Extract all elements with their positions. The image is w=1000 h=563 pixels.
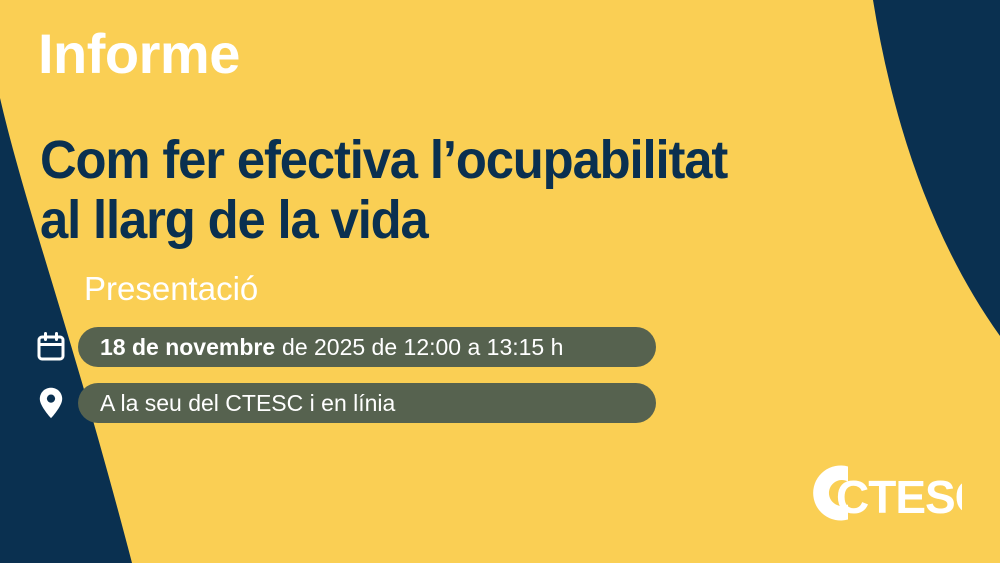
- date-rest-text: de 2025 de 12:00 a 13:15 h: [282, 336, 563, 359]
- place-text: A la seu del CTESC i en línia: [100, 392, 395, 415]
- poster-content: Informe Com fer efectiva l’ocupabilitat …: [0, 0, 1000, 563]
- ctesc-logo: CTESC: [786, 457, 962, 529]
- meta-row-place: A la seu del CTESC i en línia: [36, 383, 656, 423]
- poster-canvas: Informe Com fer efectiva l’ocupabilitat …: [0, 0, 1000, 563]
- ctesc-wordmark: CTESC: [836, 471, 962, 523]
- page-title-line-1: Com fer efectiva l’ocupabilitat: [40, 130, 848, 190]
- page-title: Com fer efectiva l’ocupabilitat al llarg…: [40, 130, 848, 251]
- subtitle-label: Presentació: [84, 271, 258, 307]
- meta-row-date: 18 de novembrede 2025 de 12:00 a 13:15 h: [36, 327, 656, 367]
- kicker-label: Informe: [38, 24, 240, 84]
- calendar-icon: [36, 330, 66, 364]
- date-strong-text: 18 de novembre: [100, 336, 275, 359]
- status-badge-place: A la seu del CTESC i en línia: [78, 383, 656, 423]
- status-badge-date: 18 de novembrede 2025 de 12:00 a 13:15 h: [78, 327, 656, 367]
- map-pin-icon: [36, 386, 66, 420]
- page-title-line-2: al llarg de la vida: [40, 190, 848, 250]
